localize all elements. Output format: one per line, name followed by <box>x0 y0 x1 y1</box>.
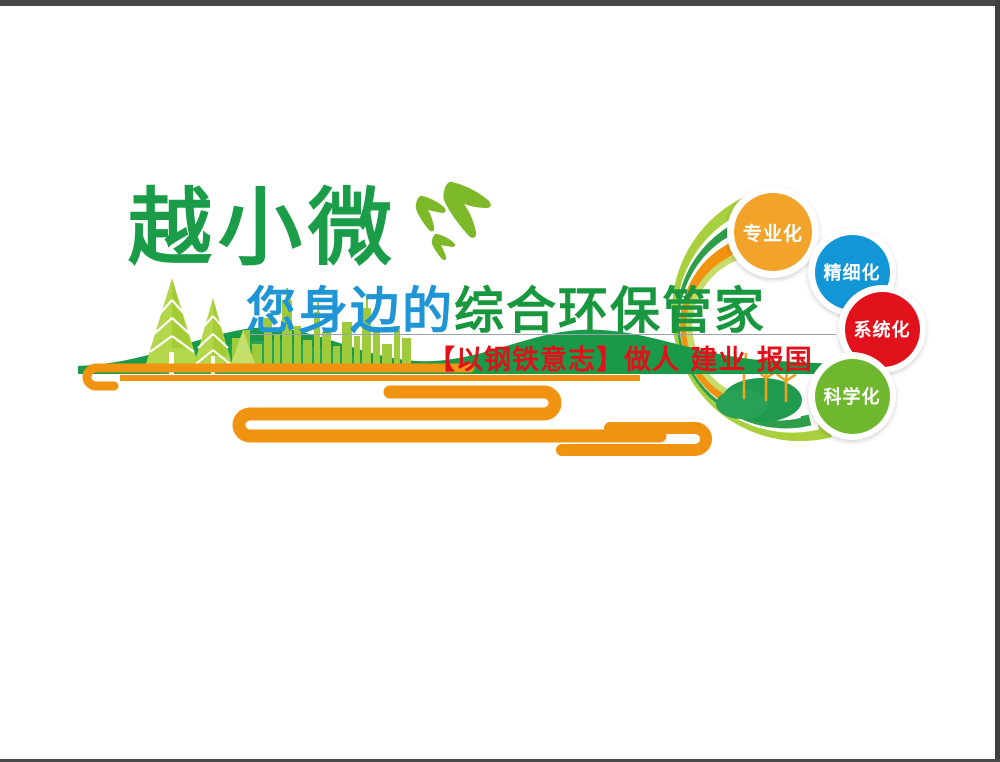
subtitle-part-blue: 您身边的 <box>246 282 454 340</box>
slogan-text: 【以钢铁意志】做人 建业 报国 <box>428 347 813 374</box>
birds-flying-icon <box>416 182 491 260</box>
frame-top-edge <box>0 0 1000 6</box>
chinese-cloud-ribbon-icon <box>87 368 706 450</box>
frame-right-edge <box>995 0 1000 762</box>
subtitle: 您身边的综合环保管家 <box>246 286 766 336</box>
badge-professional: 专业化 <box>727 186 819 278</box>
badge-scientific: 科学化 <box>808 352 896 440</box>
green-hill-icon <box>716 378 802 422</box>
pine-trees-icon <box>144 278 258 374</box>
subtitle-part-green: 综合环保管家 <box>454 282 766 340</box>
badge-label: 专业化 <box>734 193 812 271</box>
poster-canvas: 越小微 您身边的综合环保管家 【以钢铁意志】做人 建业 报国 专业化 精细化 系… <box>0 0 1000 762</box>
page-title: 越小微 <box>128 186 398 270</box>
badge-label: 科学化 <box>815 359 890 434</box>
